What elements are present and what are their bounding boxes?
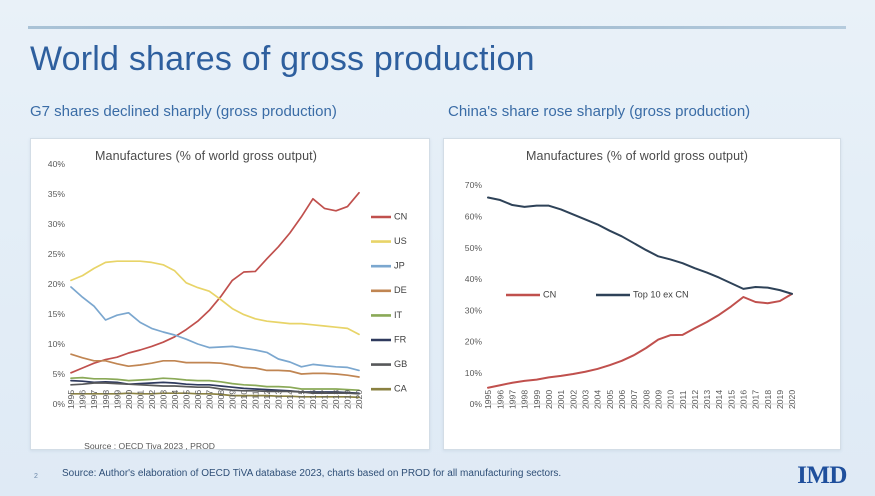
x-axis-tick-label: 2004	[170, 390, 180, 409]
x-axis-tick-label: 2008	[641, 390, 651, 409]
x-axis-tick-label: 1995	[483, 390, 493, 409]
y-axis-tick-label: 30%	[48, 219, 66, 229]
x-axis-tick-label: 2010	[666, 390, 676, 409]
legend-label-ca: CA	[394, 384, 408, 394]
x-axis-tick-label: 2001	[556, 390, 566, 409]
y-axis-tick-label: 35%	[48, 189, 66, 199]
y-axis-tick-label: 20%	[48, 279, 66, 289]
legend-label-de: DE	[394, 285, 407, 295]
x-axis-tick-label: 2017	[320, 390, 330, 409]
x-axis-tick-label: 2018	[763, 390, 773, 409]
x-axis-tick-label: 1997	[508, 390, 518, 409]
right-chart-panel: Manufactures (% of world gross output) 0…	[443, 138, 841, 450]
legend-label-top-10-ex-cn: Top 10 ex CN	[633, 289, 689, 299]
y-axis-tick-label: 10%	[48, 339, 66, 349]
x-axis-tick-label: 2015	[726, 390, 736, 409]
y-axis-tick-label: 30%	[465, 305, 483, 315]
y-axis-tick-label: 0%	[470, 399, 483, 409]
legend-label-us: US	[394, 236, 407, 246]
right-chart-svg: 0%10%20%30%40%50%60%70%19951996199719981…	[444, 139, 842, 451]
x-axis-tick-label: 2012	[690, 390, 700, 409]
x-axis-tick-label: 2010	[239, 390, 249, 409]
x-axis-tick-label: 2019	[775, 390, 785, 409]
x-axis-tick-label: 2002	[147, 390, 157, 409]
y-axis-tick-label: 40%	[48, 159, 66, 169]
title-rule	[28, 26, 846, 29]
x-axis-tick-label: 1999	[532, 390, 542, 409]
x-axis-tick-label: 2014	[714, 390, 724, 409]
y-axis-tick-label: 10%	[465, 368, 483, 378]
x-axis-tick-label: 1998	[520, 390, 530, 409]
page-title: World shares of gross production	[30, 40, 535, 79]
left-chart-subtitle: G7 shares declined sharply (gross produc…	[30, 103, 337, 120]
y-axis-tick-label: 5%	[53, 369, 66, 379]
x-axis-tick-label: 2017	[751, 390, 761, 409]
y-axis-tick-label: 60%	[465, 211, 483, 221]
x-axis-tick-label: 2015	[297, 390, 307, 409]
x-axis-tick-label: 2013	[702, 390, 712, 409]
x-axis-tick-label: 2006	[193, 390, 203, 409]
x-axis-tick-label: 2009	[653, 390, 663, 409]
x-axis-tick-label: 2018	[331, 390, 341, 409]
y-axis-tick-label: 25%	[48, 249, 66, 259]
x-axis-tick-label: 2005	[181, 390, 191, 409]
x-axis-tick-label: 2014	[285, 390, 295, 409]
x-axis-tick-label: 1995	[66, 390, 76, 409]
y-axis-tick-label: 70%	[465, 180, 483, 190]
y-axis-tick-label: 50%	[465, 243, 483, 253]
series-line-us	[71, 261, 359, 334]
legend-label-gb: GB	[394, 359, 407, 369]
x-axis-tick-label: 1998	[101, 390, 111, 409]
legend-label-cn: CN	[543, 289, 556, 299]
legend-label-fr: FR	[394, 334, 407, 344]
slide-root: World shares of gross production G7 shar…	[0, 0, 875, 496]
x-axis-tick-label: 2002	[568, 390, 578, 409]
y-axis-tick-label: 40%	[465, 274, 483, 284]
series-line-cn	[71, 193, 359, 373]
y-axis-tick-label: 0%	[53, 399, 66, 409]
x-axis-tick-label: 2011	[251, 390, 261, 409]
x-axis-tick-label: 2007	[629, 390, 639, 409]
x-axis-tick-label: 2005	[605, 390, 615, 409]
x-axis-tick-label: 2020	[354, 390, 364, 409]
x-axis-tick-label: 2007	[204, 390, 214, 409]
series-line-top-10-ex-cn	[488, 198, 792, 294]
imd-logo: IMD	[797, 462, 847, 490]
x-axis-tick-label: 2009	[227, 390, 237, 409]
left-chart-panel: Manufactures (% of world gross output) 0…	[30, 138, 430, 450]
x-axis-tick-label: 2006	[617, 390, 627, 409]
footer-source-note: Source: Author's elaboration of OECD TiV…	[62, 468, 561, 479]
x-axis-tick-label: 2000	[124, 390, 134, 409]
x-axis-tick-label: 1996	[78, 390, 88, 409]
x-axis-tick-label: 2012	[262, 390, 272, 409]
legend-label-jp: JP	[394, 261, 405, 271]
legend-label-it: IT	[394, 310, 403, 320]
x-axis-tick-label: 2003	[158, 390, 168, 409]
right-chart-subtitle: China's share rose sharply (gross produc…	[448, 103, 750, 120]
x-axis-tick-label: 2003	[580, 390, 590, 409]
x-axis-tick-label: 1996	[495, 390, 505, 409]
y-axis-tick-label: 15%	[48, 309, 66, 319]
x-axis-tick-label: 2013	[274, 390, 284, 409]
x-axis-tick-label: 2001	[135, 390, 145, 409]
x-axis-tick-label: 2004	[593, 390, 603, 409]
x-axis-tick-label: 2016	[739, 390, 749, 409]
page-number: 2	[34, 473, 38, 480]
x-axis-tick-label: 2011	[678, 390, 688, 409]
chart-source-note: Source : OECD Tiva 2023 , PROD	[84, 441, 215, 451]
legend-label-cn: CN	[394, 211, 407, 221]
left-chart-svg: 0%5%10%15%20%25%30%35%40%199519961997199…	[31, 139, 431, 451]
x-axis-tick-label: 2019	[343, 390, 353, 409]
x-axis-tick-label: 1999	[112, 390, 122, 409]
x-axis-tick-label: 2008	[216, 390, 226, 409]
x-axis-tick-label: 2020	[787, 390, 797, 409]
x-axis-tick-label: 2016	[308, 390, 318, 409]
y-axis-tick-label: 20%	[465, 337, 483, 347]
x-axis-tick-label: 1997	[89, 390, 99, 409]
x-axis-tick-label: 2000	[544, 390, 554, 409]
series-line-cn	[488, 294, 792, 388]
